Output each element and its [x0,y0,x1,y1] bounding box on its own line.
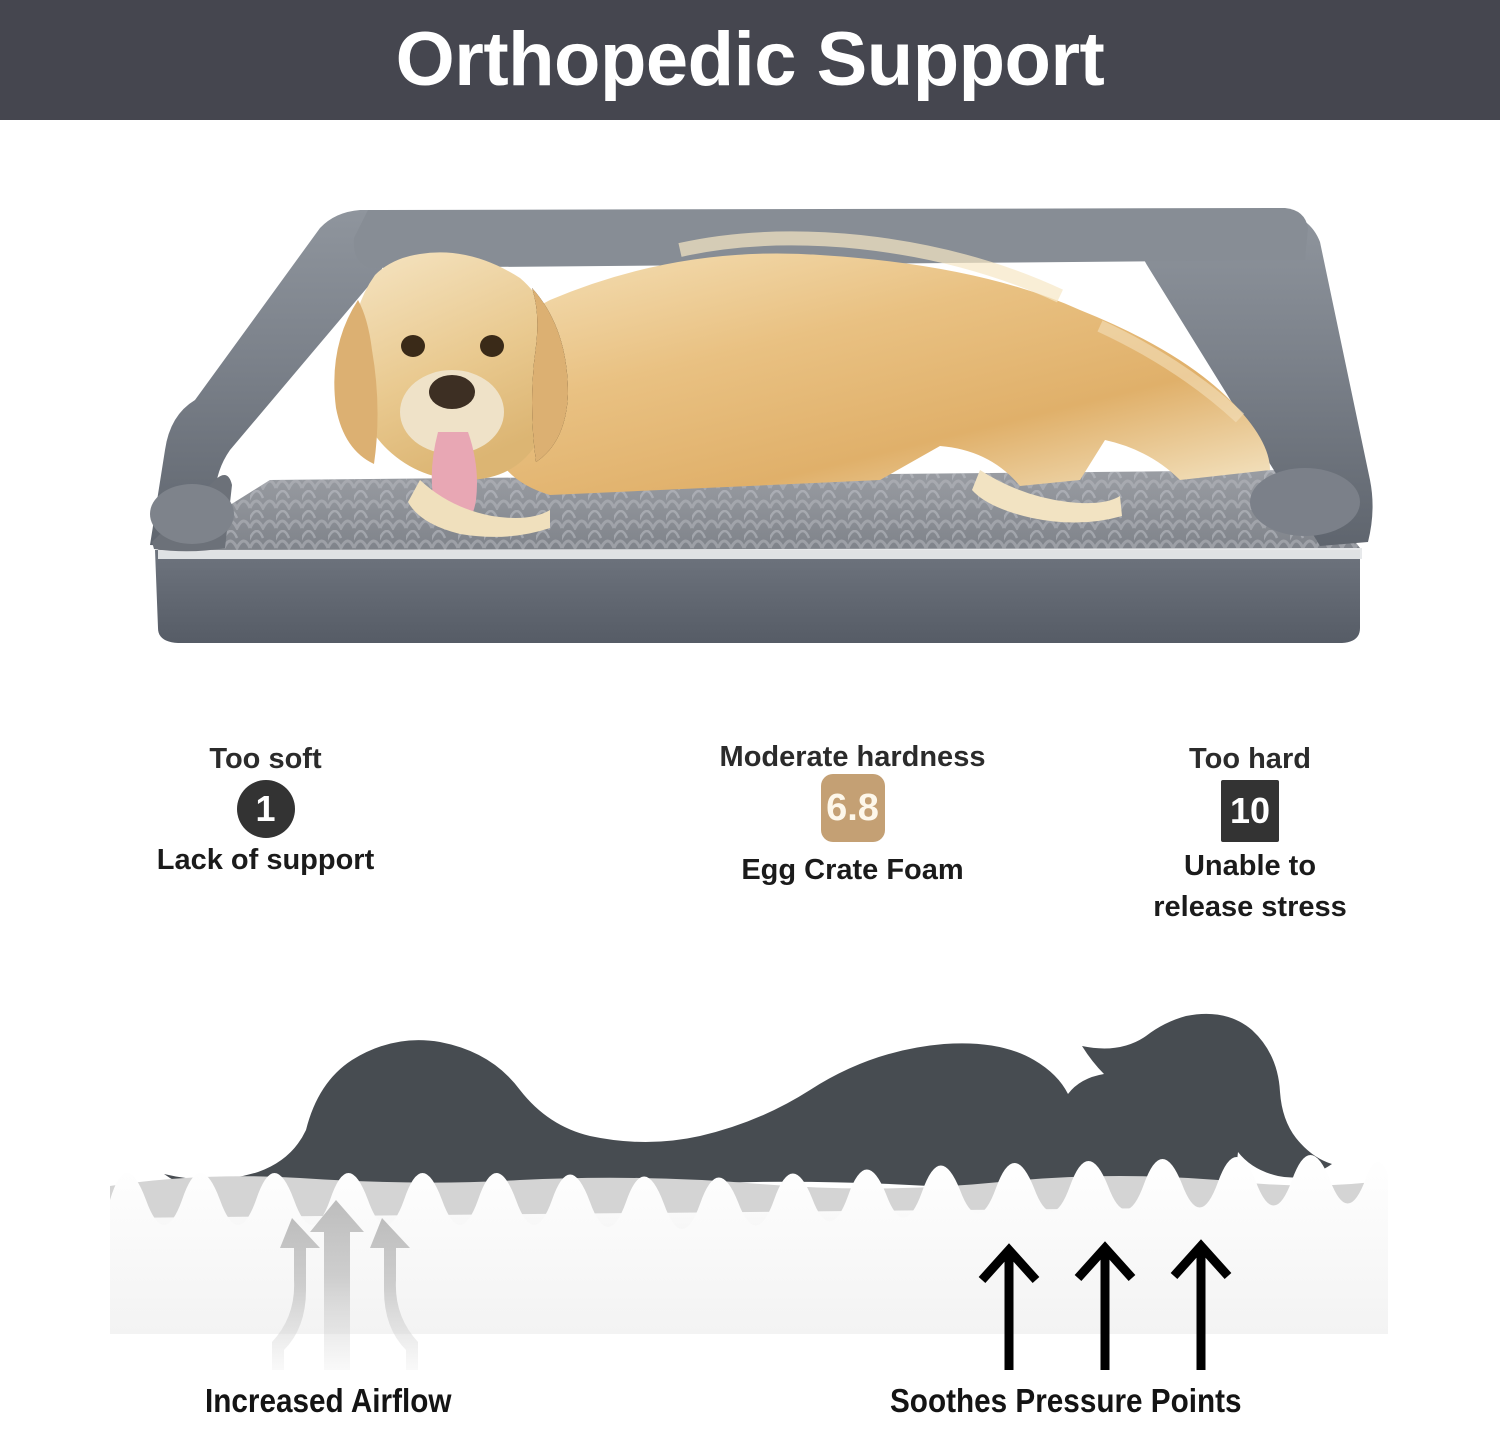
bolster-left-fuzz [150,484,234,544]
caption-soothes-pressure-points: Soothes Pressure Points [890,1382,1242,1420]
scale-node-too-hard[interactable]: Too hard 10 Unable to release stress [1125,744,1375,923]
scale-node-top-label: Moderate hardness [680,742,1025,772]
foam-cutaway-svg [0,950,1500,1370]
scale-node-bottom-label: Lack of support [128,844,403,876]
scale-badge-1: 1 [237,780,295,838]
scale-node-top-label: Too soft [128,744,403,774]
foam-cutaway-diagram [0,950,1500,1370]
scale-node-bottom-label-line2: release stress [1125,891,1375,923]
footer-captions: Increased Airflow Soothes Pressure Point… [0,1382,1500,1444]
scale-badge-6-8: 6.8 [821,774,885,842]
dog-eye-left [401,335,425,357]
bolster-right-fuzz [1250,468,1360,536]
dog-nose [429,375,475,409]
scale-badge-10: 10 [1221,780,1279,842]
scale-node-too-soft[interactable]: Too soft 1 Lack of support [128,744,403,877]
bed-base [155,550,1360,643]
dog-body [492,253,1270,495]
caption-increased-airflow: Increased Airflow [205,1382,451,1420]
scale-node-top-label: Too hard [1125,744,1375,774]
scale-node-bottom-label-line1: Unable to [1125,850,1375,882]
page-title: Orthopedic Support [396,22,1105,98]
scale-node-moderate[interactable]: Moderate hardness 6.8 Egg Crate Foam [680,742,1025,887]
product-photo-svg [120,150,1390,710]
dog-eye-right [480,335,504,357]
header-banner: Orthopedic Support [0,0,1500,120]
product-photo [120,150,1390,710]
infographic-page: Orthopedic Support [0,0,1500,1444]
scale-node-bottom-label: Egg Crate Foam [680,854,1025,886]
